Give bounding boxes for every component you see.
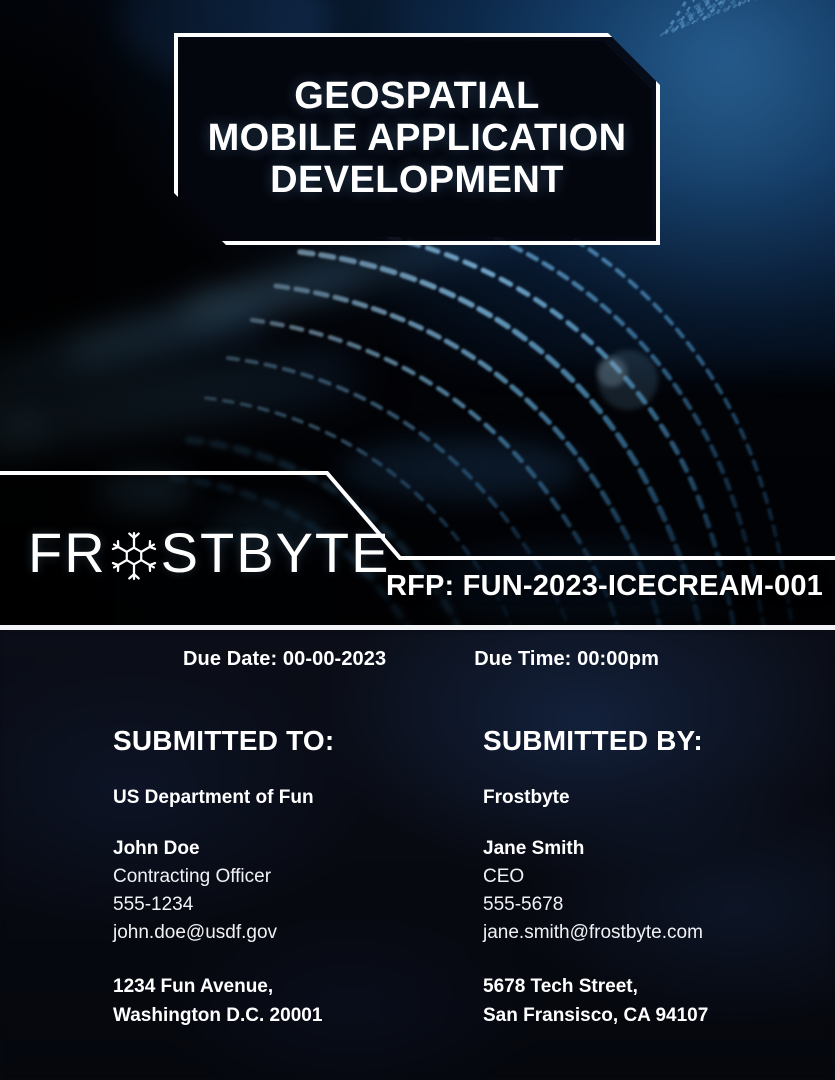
submitted-by-column: SUBMITTED BY: Frostbyte Jane Smith CEO 5… (483, 725, 833, 1030)
submitted-by-heading: SUBMITTED BY: (483, 725, 833, 757)
submitted-to-address-line-1: 1234 Fun Avenue, (113, 973, 483, 1002)
submitted-by-contact-phone: 555-5678 (483, 891, 833, 919)
page-title-line-2: MOBILE APPLICATION (208, 118, 627, 160)
submission-info-panel: Due Date: 00-00-2023 Due Time: 00:00pm S… (0, 630, 835, 1080)
submitted-by-contact-name: Jane Smith (483, 835, 833, 863)
due-time: Due Time: 00:00pm (474, 648, 659, 671)
page-title-line-1: GEOSPATIAL (208, 76, 627, 118)
rfp-cover-page: GEOSPATIAL MOBILE APPLICATION DEVELOPMEN… (0, 0, 835, 1080)
submitted-to-column: SUBMITTED TO: US Department of Fun John … (113, 725, 483, 1030)
due-row: Due Date: 00-00-2023 Due Time: 00:00pm (0, 648, 835, 671)
submitted-to-contact-title: Contracting Officer (113, 863, 483, 891)
submitted-to-address-line-2: Washington D.C. 20001 (113, 1002, 483, 1031)
submitted-to-contact-phone: 555-1234 (113, 891, 483, 919)
submitted-to-heading: SUBMITTED TO: (113, 725, 483, 757)
rfp-number: RFP: FUN-2023-ICECREAM-001 (0, 570, 823, 603)
submitted-by-organization: Frostbyte (483, 787, 833, 809)
submitted-to-contact-name: John Doe (113, 835, 483, 863)
submitted-to-contact-email: john.doe@usdf.gov (113, 919, 483, 947)
submitted-by-address-line-1: 5678 Tech Street, (483, 973, 833, 1002)
submitted-to-organization: US Department of Fun (113, 787, 483, 809)
submitted-to-address: 1234 Fun Avenue, Washington D.C. 20001 (113, 973, 483, 1030)
document-title-box: GEOSPATIAL MOBILE APPLICATION DEVELOPMEN… (174, 33, 660, 245)
page-title-line-3: DEVELOPMENT (208, 160, 627, 202)
submitted-by-address-line-2: San Fransisco, CA 94107 (483, 1002, 833, 1031)
submitted-by-contact-email: jane.smith@frostbyte.com (483, 919, 833, 947)
page-title: GEOSPATIAL MOBILE APPLICATION DEVELOPMEN… (200, 76, 635, 201)
contact-columns: SUBMITTED TO: US Department of Fun John … (0, 725, 835, 1030)
submitted-by-address: 5678 Tech Street, San Fransisco, CA 9410… (483, 973, 833, 1030)
submitted-by-contact-title: CEO (483, 863, 833, 891)
due-date: Due Date: 00-00-2023 (183, 648, 386, 671)
